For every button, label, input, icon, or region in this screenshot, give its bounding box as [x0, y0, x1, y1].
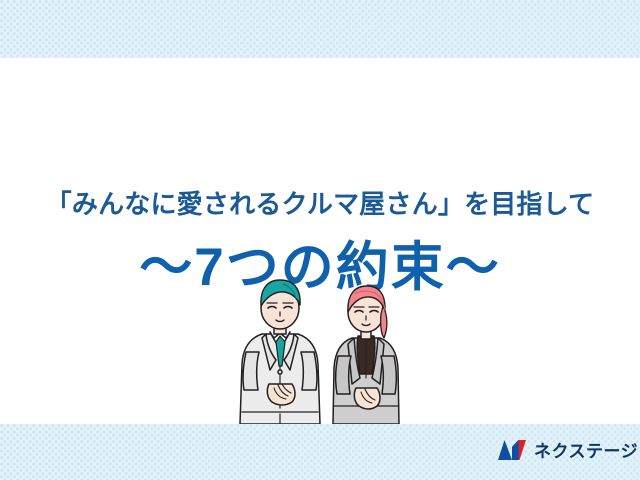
staff-illustration — [236, 272, 416, 424]
female-staff-figure — [333, 286, 399, 424]
headline-primary: 「みんなに愛されるクルマ屋さん」を目指して — [0, 184, 640, 221]
top-dot-band — [0, 0, 640, 58]
male-staff-figure — [240, 280, 320, 424]
nextage-n-mark — [497, 439, 527, 461]
promo-banner: 「みんなに愛されるクルマ屋さん」を目指して 〜7つの約束〜 — [0, 0, 640, 480]
brand-logo: ネクステージ — [497, 437, 638, 462]
brand-name: ネクステージ — [534, 437, 638, 462]
